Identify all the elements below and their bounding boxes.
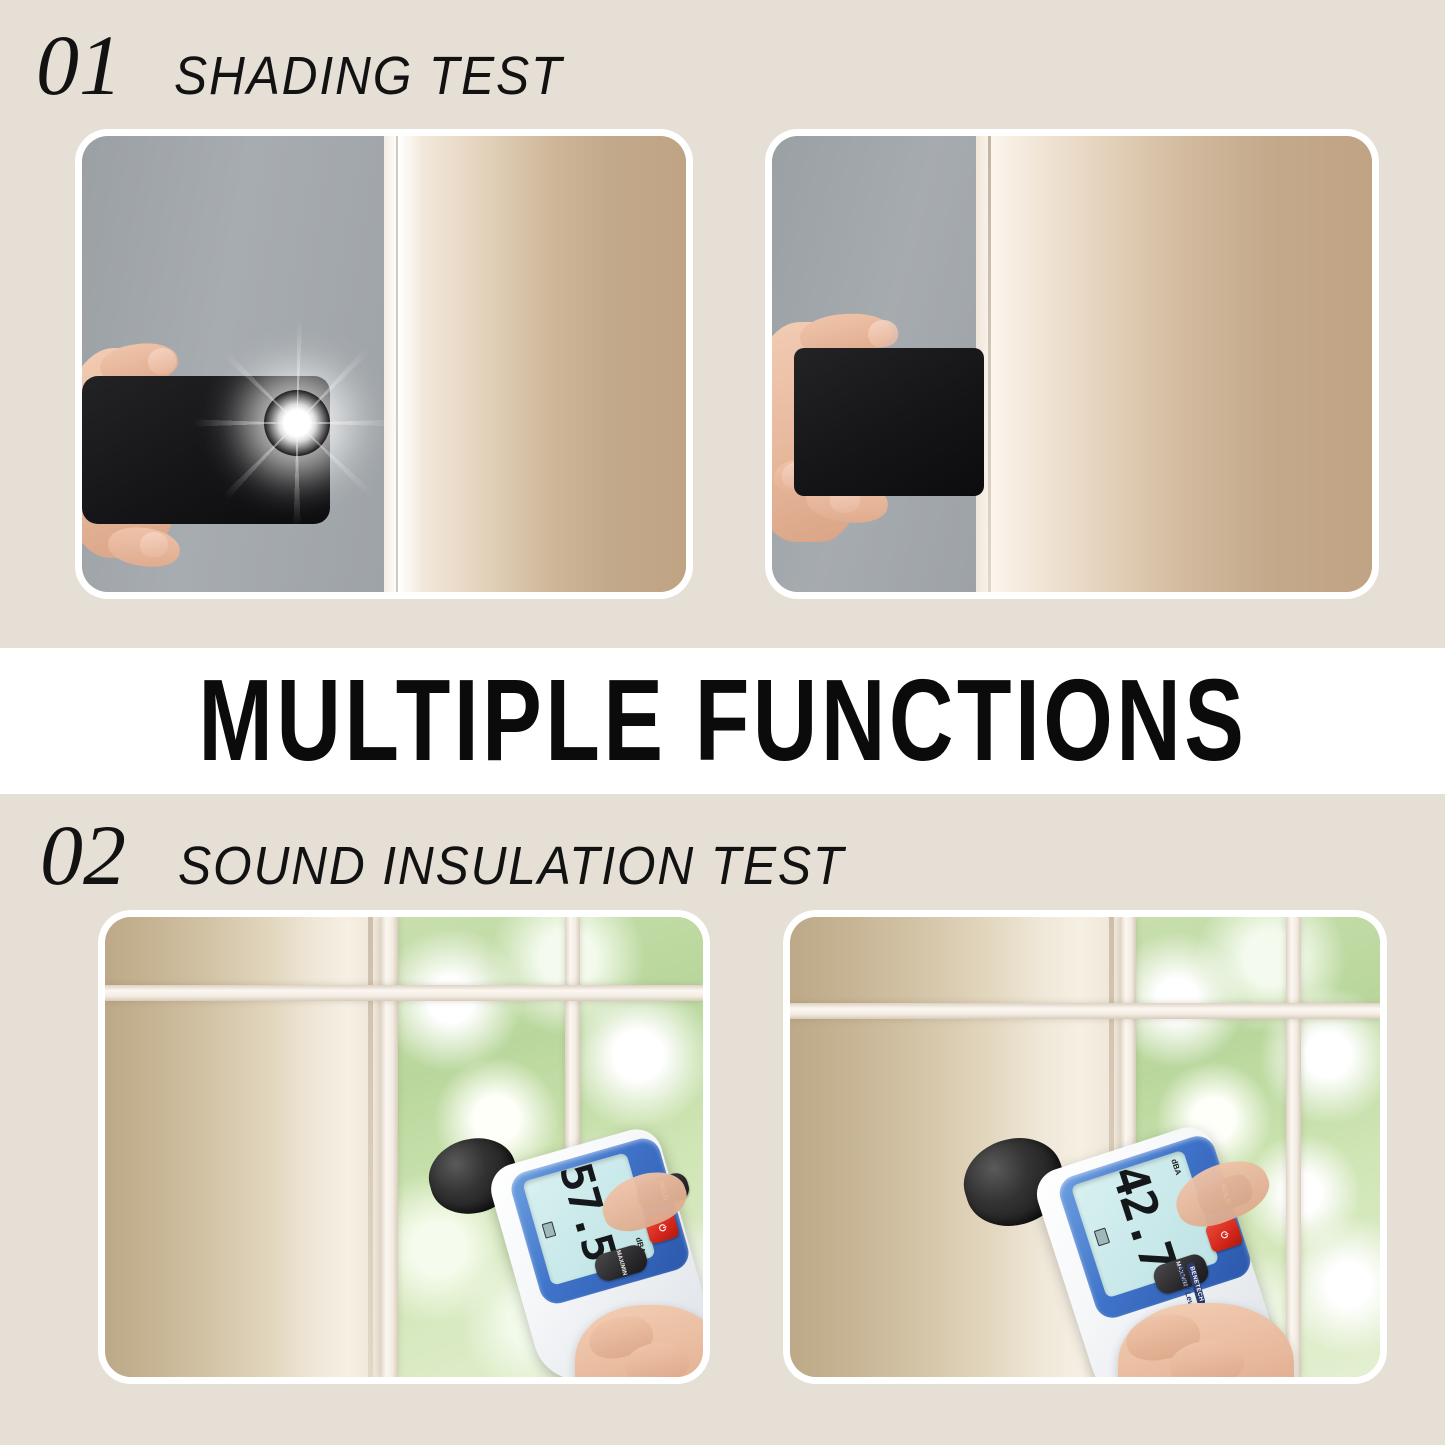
battery-icon xyxy=(542,1221,557,1238)
scene-meter-behind-curtain: 42.7 dBA HOLD ⏻ MAX/MIN BENETECH GM1353 … xyxy=(790,917,1380,1377)
scene-flashlight-on xyxy=(82,136,686,592)
meter-reading: 42.7 xyxy=(1100,1158,1182,1265)
section-number: 02 xyxy=(40,812,126,898)
battery-icon xyxy=(1094,1227,1110,1246)
photo-shading-flashlight-on xyxy=(82,136,686,592)
photo-sound-open-window: 57.5 dBA HOLD ⏻ MAX/MIN xyxy=(105,917,703,1377)
photo-sound-behind-curtain: 42.7 dBA HOLD ⏻ MAX/MIN BENETECH GM1353 … xyxy=(790,917,1380,1377)
maxmin-button-label: MAX/MIN xyxy=(615,1250,628,1277)
section-heading-02: 02 SOUND INSULATION TEST xyxy=(40,812,903,898)
scene-flashlight-off xyxy=(772,136,1372,592)
curtain-seam xyxy=(988,136,991,592)
window-mullion-horizontal xyxy=(790,1003,1380,1019)
curtain-panel xyxy=(976,136,1372,592)
smartphone xyxy=(794,348,984,496)
window-mullion-horizontal xyxy=(105,985,703,1001)
photo-shading-flashlight-off xyxy=(772,136,1372,592)
section-heading-01: 01 SHADING TEST xyxy=(36,22,597,108)
sound-level-meter: 42.7 dBA HOLD ⏻ MAX/MIN BENETECH GM1353 … xyxy=(960,1117,1360,1377)
section-title: SOUND INSULATION TEST xyxy=(178,839,845,893)
flashlight-beam xyxy=(264,390,330,456)
power-button-label: ⏻ xyxy=(656,1223,669,1233)
scene-meter-open-window: 57.5 dBA HOLD ⏻ MAX/MIN xyxy=(105,917,703,1377)
banner-title: MULTIPLE FUNCTIONS xyxy=(198,663,1247,779)
section-title: SHADING TEST xyxy=(174,49,563,103)
power-button-label: ⏻ xyxy=(1218,1230,1231,1240)
fingernail xyxy=(140,532,168,557)
meter-unit: dBA xyxy=(1169,1158,1183,1176)
sound-level-meter: 57.5 dBA HOLD ⏻ MAX/MIN xyxy=(425,1129,685,1377)
multiple-functions-banner: MULTIPLE FUNCTIONS xyxy=(0,648,1445,794)
section-number: 01 xyxy=(36,22,122,108)
curtain-panel xyxy=(384,136,686,592)
